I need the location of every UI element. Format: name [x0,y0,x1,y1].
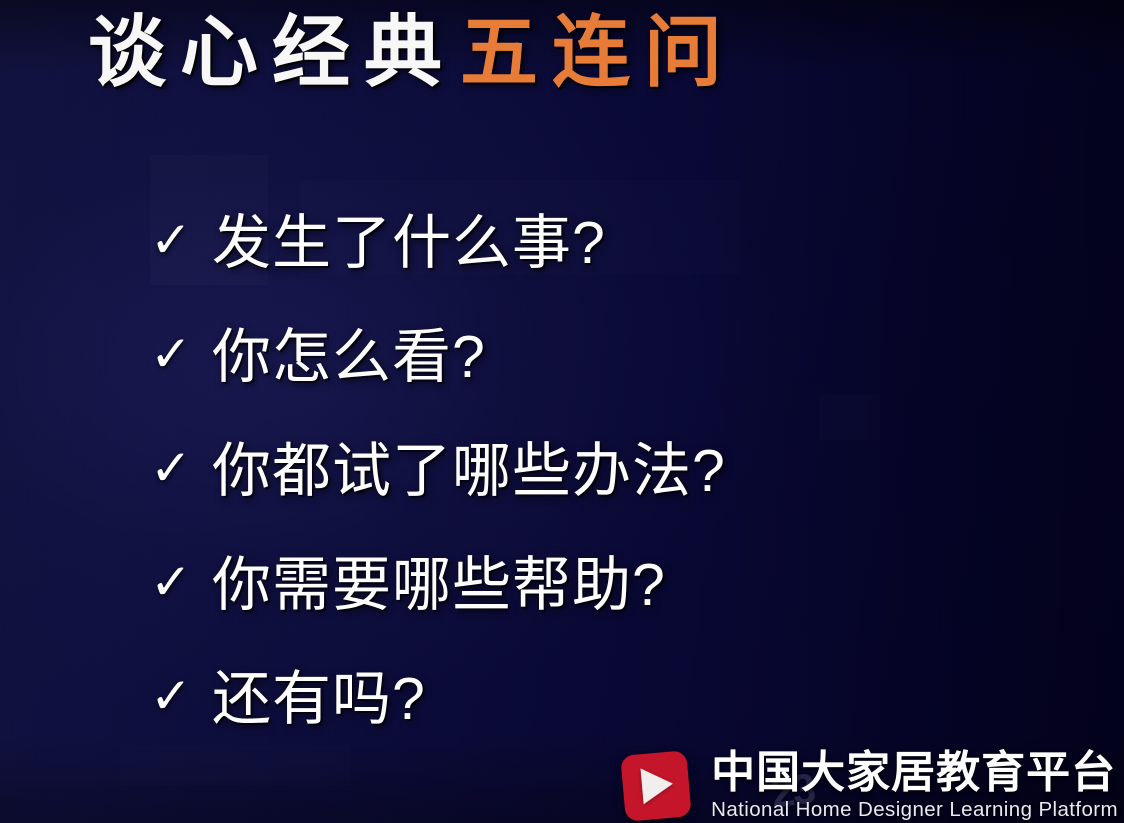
check-icon: ✓ [150,671,212,721]
slide-title: 谈心经典 五连问 [88,12,736,94]
slide-title-accent: 五连问 [460,12,736,94]
check-icon: ✓ [150,443,212,493]
play-button-icon [617,751,695,821]
list-item: ✓ 你都试了哪些办法? [150,414,1050,528]
list-item: ✓ 还有吗? [150,642,1050,756]
question-text: 你都试了哪些办法? [212,442,726,501]
check-icon: ✓ [150,329,212,379]
presentation-slide: 谈心经典 五连问 ✓ 发生了什么事? ✓ 你怎么看? ✓ 你都试了哪些办法? ✓… [0,0,1124,823]
list-item: ✓ 发生了什么事? [150,186,1050,300]
brand-logo-text: 23 中国大家居教育平台 National Home Designer Lear… [711,751,1118,821]
question-text: 还有吗? [212,670,426,729]
check-icon: ✓ [150,557,212,607]
brand-name-cn: 中国大家居教育平台 [711,751,1118,795]
question-text: 你需要哪些帮助? [212,556,666,615]
list-item: ✓ 你怎么看? [150,300,1050,414]
brand-name-en: National Home Designer Learning Platform [711,800,1118,821]
check-icon: ✓ [150,215,212,265]
brand-logo: 23 中国大家居教育平台 National Home Designer Lear… [617,751,1118,821]
question-list: ✓ 发生了什么事? ✓ 你怎么看? ✓ 你都试了哪些办法? ✓ 你需要哪些帮助?… [150,186,1050,756]
list-item: ✓ 你需要哪些帮助? [150,528,1050,642]
slide-title-main: 谈心经典 [88,12,456,94]
question-text: 你怎么看? [212,328,486,387]
question-text: 发生了什么事? [212,214,606,273]
play-triangle-icon [641,766,675,805]
